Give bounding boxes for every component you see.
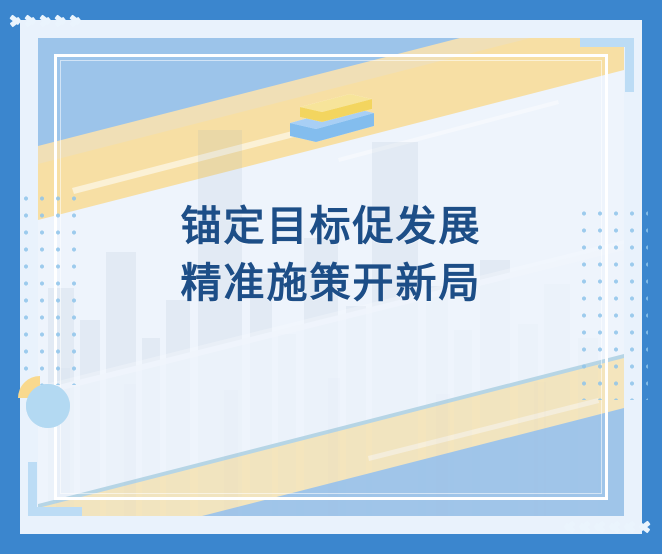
corner-bracket-bottom-left: [28, 462, 82, 516]
title-line-1: 锚定目标促发展: [0, 198, 662, 255]
page-title: 锚定目标促发展 精准施策开新局: [0, 198, 662, 311]
chevron-row-bottom-right: [562, 516, 650, 538]
pie-chart-icon: [16, 370, 72, 428]
chevron-right-icon: [25, 10, 38, 32]
chevron-left-icon: [607, 516, 620, 538]
stacked-books-icon: [286, 93, 378, 143]
corner-bracket-top-right: [580, 38, 634, 92]
title-line-2: 精准施策开新局: [0, 255, 662, 312]
chevron-row-top-left: [10, 10, 83, 32]
chevron-right-icon: [40, 10, 53, 32]
chevron-right-icon: [10, 10, 23, 32]
chevron-left-icon: [577, 516, 590, 538]
poster-banner: 锚定目标促发展 精准施策开新局: [0, 0, 662, 554]
chevron-right-icon: [70, 10, 83, 32]
chevron-left-icon: [592, 516, 605, 538]
chevron-left-icon: [637, 516, 650, 538]
chevron-right-icon: [55, 10, 68, 32]
chevron-left-icon: [622, 516, 635, 538]
chevron-left-icon: [562, 516, 575, 538]
